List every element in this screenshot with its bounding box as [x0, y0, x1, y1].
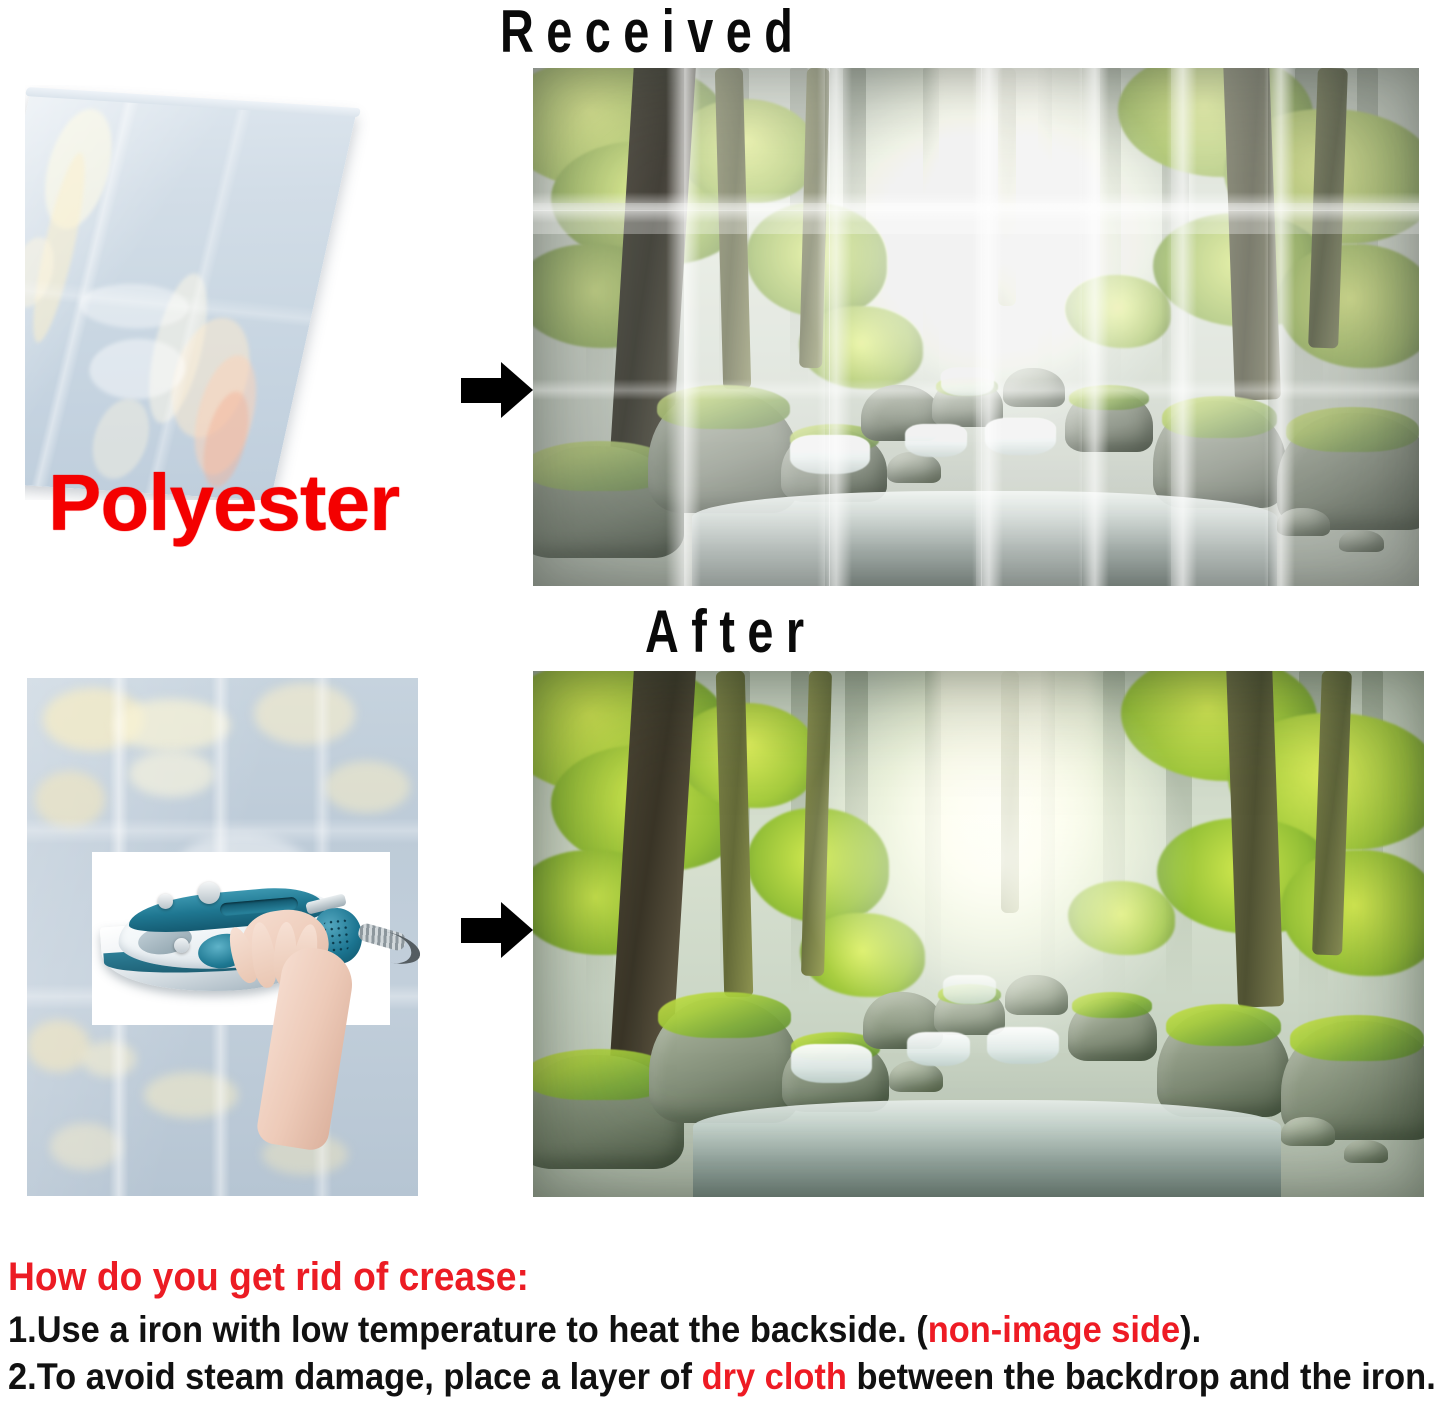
after-heading: After: [645, 602, 817, 662]
arrow-right-icon: [461, 362, 533, 418]
folded-fabric-photo: [25, 85, 425, 500]
instr-1-highlight: non-image side: [928, 1309, 1180, 1350]
iron-photo-tile: [92, 852, 390, 1025]
instr-1-pre: 1.Use a iron with low temperature to hea…: [8, 1309, 928, 1350]
arrow-right-icon: [461, 902, 533, 958]
received-heading: Received: [500, 2, 805, 62]
instructions-line-1: 1.Use a iron with low temperature to hea…: [8, 1311, 1201, 1348]
instructions-title: How do you get rid of crease:: [8, 1257, 529, 1297]
after-backdrop-image: [533, 671, 1424, 1197]
instr-2-post: between the backdrop and the iron.: [847, 1356, 1436, 1397]
folded-fabric-sheet: [25, 89, 357, 500]
instr-2-highlight: dry cloth: [702, 1356, 847, 1397]
instr-1-post: ).: [1180, 1309, 1201, 1350]
forest-scene: [533, 671, 1424, 1197]
instructions-line-2: 2.To avoid steam damage, place a layer o…: [8, 1358, 1436, 1395]
instr-2-pre: 2.To avoid steam damage, place a layer o…: [8, 1356, 702, 1397]
material-label: Polyester: [48, 463, 399, 543]
forest-scene: [533, 68, 1419, 586]
received-backdrop-image: [533, 68, 1419, 586]
